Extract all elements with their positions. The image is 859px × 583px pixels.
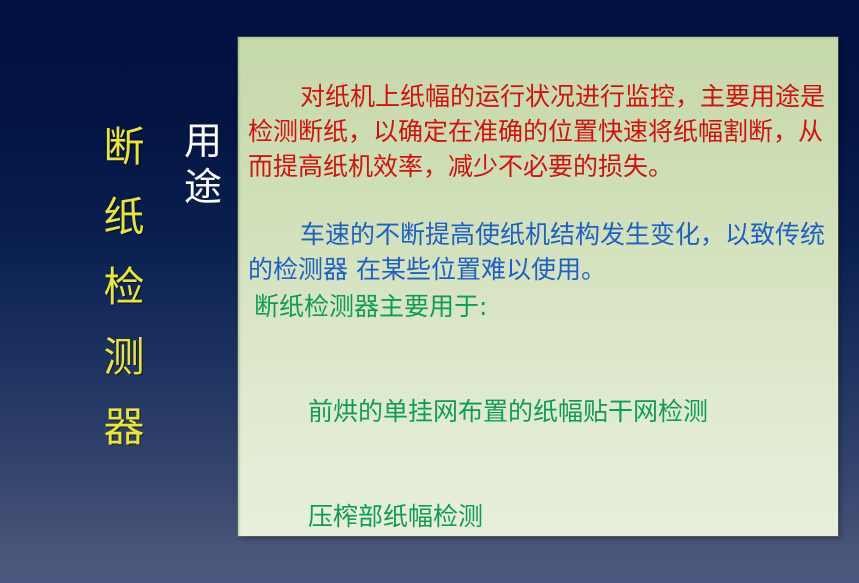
- content-panel: 对纸机上纸幅的运行状况进行监控，主要用途是检测断纸，以确定在准确的位置快速将纸幅…: [238, 37, 838, 536]
- list-item: 压榨部纸幅检测: [308, 499, 838, 534]
- title-char-1: 断: [104, 112, 145, 182]
- title-char-4: 测: [104, 322, 145, 392]
- bullet-list: 前烘的单挂网布置的纸幅贴干网检测 压榨部纸幅检测 烘干部双干网纸幅检测 压光机前…: [308, 324, 838, 536]
- title-char-5: 器: [104, 392, 145, 462]
- green-heading: 断纸检测器主要用于:: [254, 289, 838, 324]
- title-char-3: 检: [104, 252, 145, 322]
- presentation-slide: 断 纸 检 测 器 用 途 对纸机上纸幅的运行状况进行监控，主要用途是检测断纸，…: [0, 0, 859, 583]
- slide-vertical-title: 断 纸 检 测 器: [96, 112, 152, 462]
- list-item: 前烘的单挂网布置的纸幅贴干网检测: [308, 394, 838, 429]
- blue-paragraph: 车速的不断提高使纸机结构发生变化，以致传统的检测器 在某些位置难以使用。: [248, 217, 830, 287]
- slide-subtitle: 用 途: [178, 118, 228, 210]
- red-paragraph: 对纸机上纸幅的运行状况进行监控，主要用途是检测断纸，以确定在准确的位置快速将纸幅…: [248, 79, 830, 184]
- subtitle-char-1: 用: [184, 118, 222, 164]
- subtitle-char-2: 途: [184, 164, 222, 210]
- title-char-2: 纸: [104, 182, 145, 252]
